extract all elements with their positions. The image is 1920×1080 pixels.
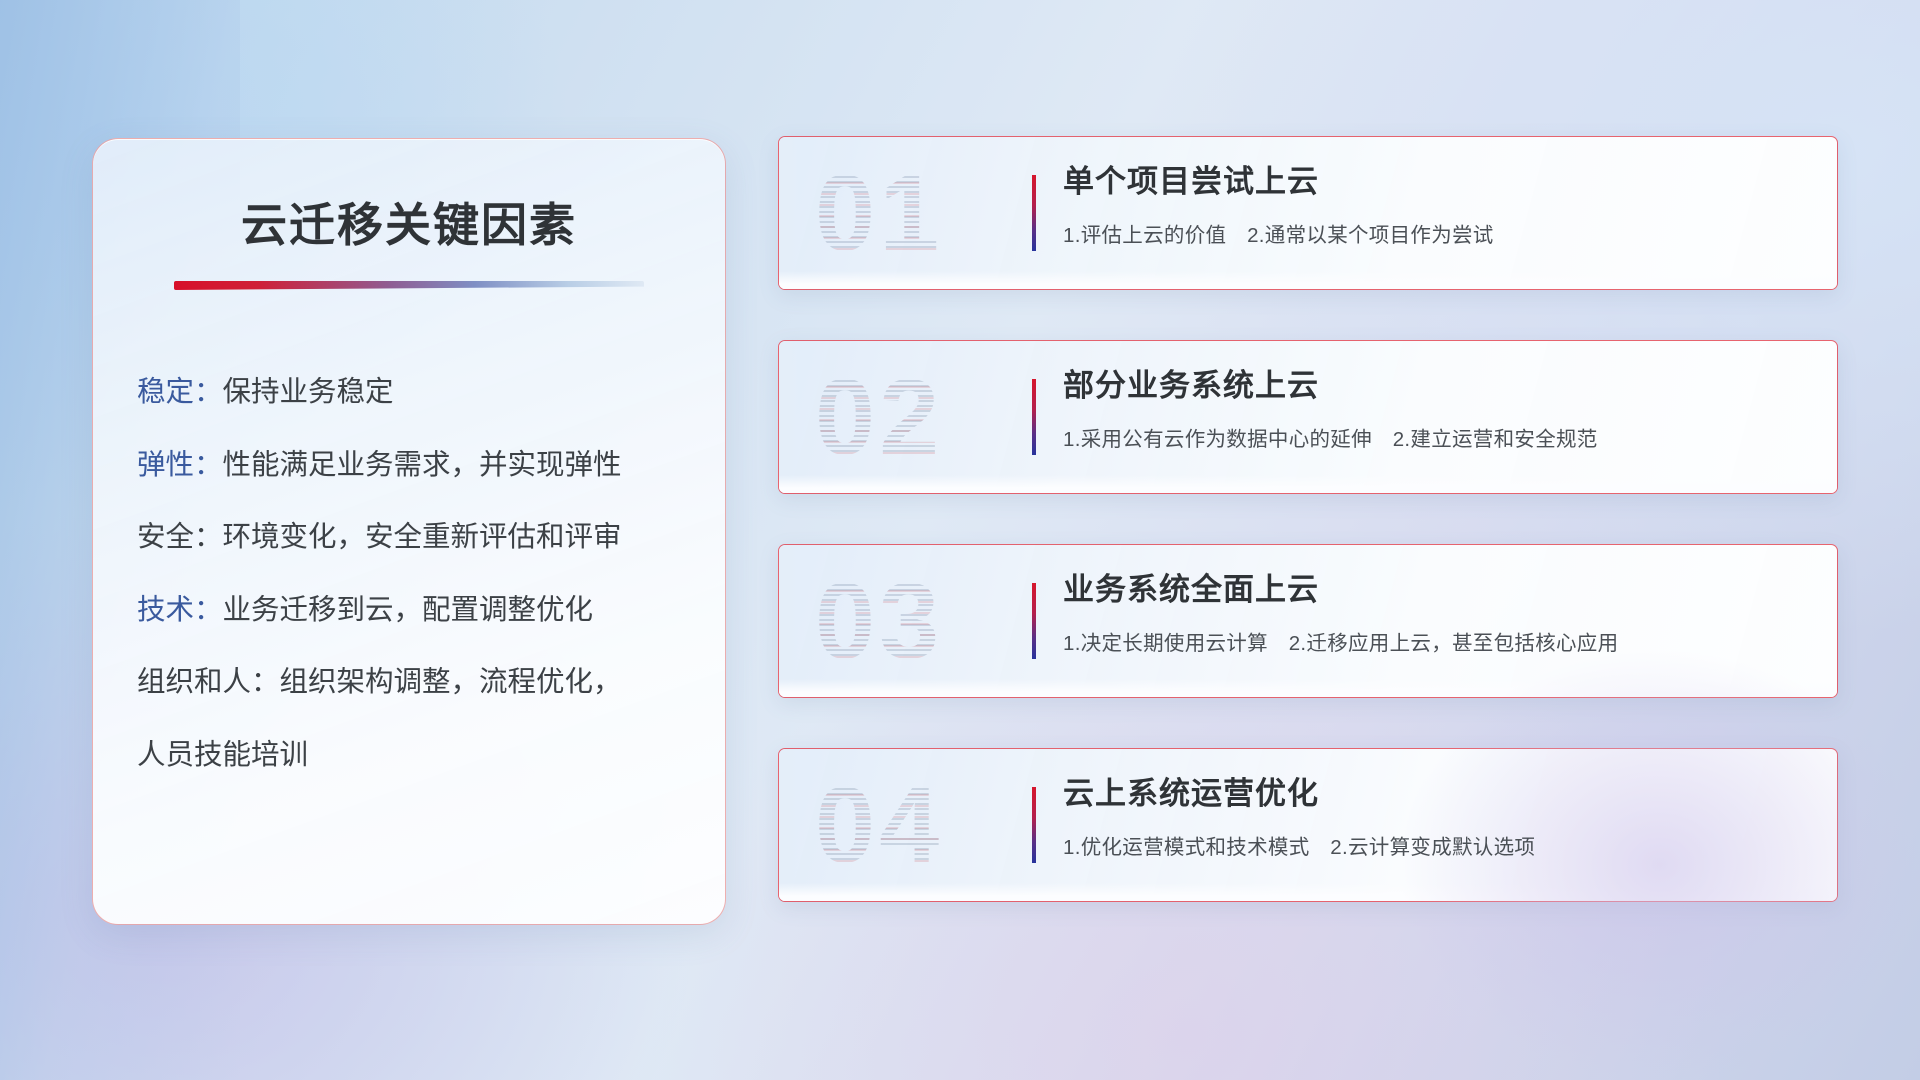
stage-title: 部分业务系统上云	[1063, 367, 1811, 406]
stage-card-01[interactable]: 01 01 单个项目尝试上云 1.评估上云的价值 2.通常以某个项目作为尝试	[778, 136, 1838, 290]
stage-card-text: 云上系统运营优化 1.优化运营模式和技术模式 2.云计算变成默认选项	[1063, 775, 1811, 860]
stage-card-04[interactable]: 04 04 云上系统运营优化 1.优化运营模式和技术模式 2.云计算变成默认选项	[778, 748, 1838, 902]
stage-number-04-tint: 04	[815, 763, 1015, 887]
factor-label: 技术：	[137, 594, 223, 626]
page-title: 云迁移关键因素	[93, 189, 725, 255]
stage-card-02[interactable]: 02 02 部分业务系统上云 1.采用公有云作为数据中心的延伸 2.建立运营和安…	[778, 340, 1838, 494]
list-item: 技术：业务迁移到云，配置调整优化	[137, 596, 681, 625]
stage-card-text: 部分业务系统上云 1.采用公有云作为数据中心的延伸 2.建立运营和安全规范	[1063, 367, 1811, 452]
stage-description: 1.采用公有云作为数据中心的延伸 2.建立运营和安全规范	[1063, 422, 1811, 452]
stage-description: 1.评估上云的价值 2.通常以某个项目作为尝试	[1063, 218, 1811, 248]
factor-text: 人员技能培训	[137, 739, 308, 771]
key-factors-list: 稳定：保持业务稳定 弹性：性能满足业务需求，并实现弹性 安全：环境变化，安全重新…	[93, 378, 725, 769]
stage-number-02-tint: 02	[815, 355, 1015, 479]
list-item-continuation: 人员技能培训	[137, 741, 681, 770]
factor-label: 组织和人：	[137, 666, 280, 698]
stage-card-text: 业务系统全面上云 1.决定长期使用云计算 2.迁移应用上云，甚至包括核心应用	[1063, 571, 1811, 656]
stage-number-01-tint: 01	[815, 151, 1015, 275]
accent-divider-bar	[1032, 787, 1036, 863]
list-item: 安全：环境变化，安全重新评估和评审	[137, 523, 681, 552]
list-item: 组织和人：组织架构调整，流程优化，	[137, 668, 681, 697]
factor-text: 业务迁移到云，配置调整优化	[223, 594, 594, 626]
stage-card-03[interactable]: 03 03 业务系统全面上云 1.决定长期使用云计算 2.迁移应用上云，甚至包括…	[778, 544, 1838, 698]
stage-number-03-tint: 03	[815, 559, 1015, 683]
stage-title: 单个项目尝试上云	[1063, 163, 1811, 202]
stage-title: 云上系统运营优化	[1063, 775, 1811, 814]
migration-stage-cards: 01 01 单个项目尝试上云 1.评估上云的价值 2.通常以某个项目作为尝试 0…	[778, 136, 1838, 952]
stage-description: 1.决定长期使用云计算 2.迁移应用上云，甚至包括核心应用	[1063, 626, 1811, 656]
stage-title: 业务系统全面上云	[1063, 571, 1811, 610]
stage-card-text: 单个项目尝试上云 1.评估上云的价值 2.通常以某个项目作为尝试	[1063, 163, 1811, 248]
factor-text: 保持业务稳定	[223, 376, 394, 408]
accent-divider-bar	[1032, 379, 1036, 455]
factor-label: 稳定：	[137, 376, 223, 408]
factor-text: 组织架构调整，流程优化，	[280, 666, 622, 698]
factor-label: 安全：	[137, 521, 223, 553]
factor-text: 性能满足业务需求，并实现弹性	[223, 449, 622, 481]
factor-text: 环境变化，安全重新评估和评审	[223, 521, 622, 553]
factor-label: 弹性：	[137, 449, 223, 481]
list-item: 弹性：性能满足业务需求，并实现弹性	[137, 451, 681, 480]
key-factors-panel: 云迁移关键因素 稳定：保持业务稳定 弹性：性能满足业务需求，并实现弹性 安全：环…	[92, 138, 726, 925]
stage-description: 1.优化运营模式和技术模式 2.云计算变成默认选项	[1063, 830, 1811, 860]
accent-divider-bar	[1032, 583, 1036, 659]
slide-canvas: 云迁移关键因素 稳定：保持业务稳定 弹性：性能满足业务需求，并实现弹性 安全：环…	[0, 0, 1920, 1080]
list-item: 稳定：保持业务稳定	[137, 378, 681, 407]
title-underline-rule	[174, 281, 644, 290]
accent-divider-bar	[1032, 175, 1036, 251]
